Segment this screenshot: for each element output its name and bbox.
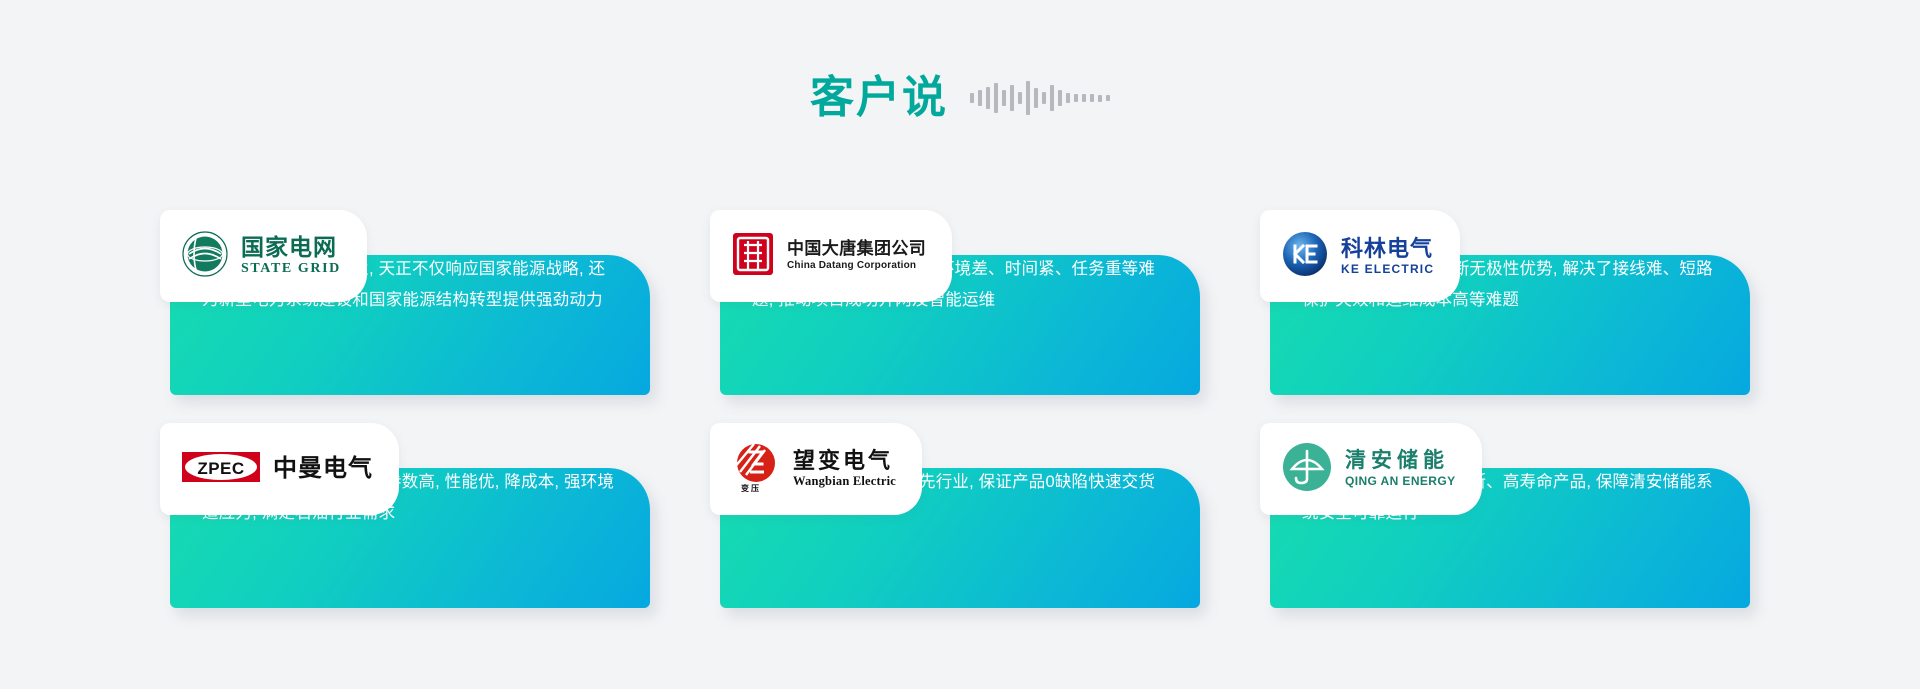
- testimonial-card[interactable]: 变 压 望变电气 Wangbian Electric 天正智造和智能仓储领先行业…: [710, 423, 1200, 608]
- testimonial-card[interactable]: 中国大唐集团公司 China Datang Corporation 6个月项目周…: [710, 210, 1200, 395]
- testimonial-card[interactable]: 清安储能 QING AN ENERGY 天正NEXTG3系列高分断、高寿命产品,…: [1260, 423, 1750, 608]
- testimonial-card[interactable]: ZPEC 中曼电气 TG3系列行业平台型产品参数高, 性能优, 降成本, 强环境…: [160, 423, 650, 608]
- wangbian-circle-icon: 变 压: [732, 442, 780, 497]
- waveform-bar: [1050, 85, 1054, 111]
- waveform-bar: [1002, 90, 1006, 106]
- waveform-bar: [1066, 93, 1070, 103]
- state-grid-globe-icon: [182, 231, 228, 282]
- brand-name-cn: 国家电网: [241, 235, 341, 259]
- brand-logo-text: 望变电气 Wangbian Electric: [793, 449, 896, 488]
- testimonial-card[interactable]: 科林电气 KE ELECTRIC 天正NEXTG3系列微断无极性优势, 解决了接…: [1260, 210, 1750, 395]
- brand-logo-text: 科林电气 KE ELECTRIC: [1341, 237, 1434, 276]
- brand-name-cn: 中国大唐集团公司: [787, 240, 926, 258]
- brand-logo-text: 中曼电气: [273, 456, 373, 481]
- brand-logo-badge: 国家电网 STATE GRID: [160, 210, 367, 302]
- waveform-bar: [1098, 95, 1102, 102]
- brand-name-en: QING AN ENERGY: [1345, 475, 1456, 488]
- waveform-bar: [1018, 92, 1022, 104]
- page-title: 客户说: [810, 76, 948, 120]
- waveform-bar: [1034, 88, 1038, 108]
- waveform-bar: [1042, 92, 1046, 104]
- brand-name-en: China Datang Corporation: [787, 261, 926, 272]
- testimonial-card-grid: 国家电网 STATE GRID 作为电气行业龙头企业, 天正不仅响应国家能源战略…: [160, 210, 1770, 608]
- waveform-bar: [994, 83, 998, 113]
- brand-name-en: Wangbian Electric: [793, 475, 896, 488]
- section-heading: 客户说: [0, 68, 1920, 128]
- brand-logo-badge: ZPEC 中曼电气: [160, 423, 399, 515]
- zpec-badge-icon: ZPEC: [182, 450, 260, 489]
- brand-name-en: KE ELECTRIC: [1341, 263, 1434, 276]
- ke-electric-circle-icon: [1282, 231, 1328, 282]
- brand-logo-badge: 中国大唐集团公司 China Datang Corporation: [710, 210, 952, 302]
- waveform-bar: [1090, 94, 1094, 102]
- datang-seal-icon: [732, 232, 774, 281]
- waveform-bar: [970, 93, 974, 103]
- waveform-bar: [1106, 95, 1110, 101]
- brand-logo-badge: 清安储能 QING AN ENERGY: [1260, 423, 1482, 515]
- waveform-bar: [1082, 94, 1086, 102]
- brand-name-cn: 科林电气: [1341, 237, 1434, 260]
- brand-name-en: STATE GRID: [241, 262, 341, 277]
- qingan-umbrella-icon: [1282, 442, 1332, 497]
- brand-name-cn: 清安储能: [1345, 450, 1456, 472]
- svg-text:ZPEC: ZPEC: [197, 459, 244, 478]
- waveform-bar: [1058, 90, 1062, 106]
- brand-logo-text: 国家电网 STATE GRID: [241, 235, 341, 277]
- waveform-bar: [1074, 94, 1078, 102]
- audio-waveform-icon: [970, 76, 1110, 120]
- brand-logo-badge: 科林电气 KE ELECTRIC: [1260, 210, 1460, 302]
- svg-text:变 压: 变 压: [741, 483, 759, 492]
- brand-logo-text: 清安储能 QING AN ENERGY: [1345, 450, 1456, 488]
- brand-logo-badge: 变 压 望变电气 Wangbian Electric: [710, 423, 922, 515]
- testimonial-card[interactable]: 国家电网 STATE GRID 作为电气行业龙头企业, 天正不仅响应国家能源战略…: [160, 210, 650, 395]
- waveform-bar: [986, 87, 990, 109]
- brand-name-cn: 中曼电气: [273, 456, 373, 481]
- waveform-bar: [978, 90, 982, 106]
- brand-logo-text: 中国大唐集团公司 China Datang Corporation: [787, 240, 926, 271]
- brand-name-cn: 望变电气: [793, 449, 896, 472]
- waveform-bar: [1010, 85, 1014, 111]
- customer-testimonials-section: 客户说 国家电网 STAT: [0, 0, 1920, 689]
- waveform-bar: [1026, 81, 1030, 115]
